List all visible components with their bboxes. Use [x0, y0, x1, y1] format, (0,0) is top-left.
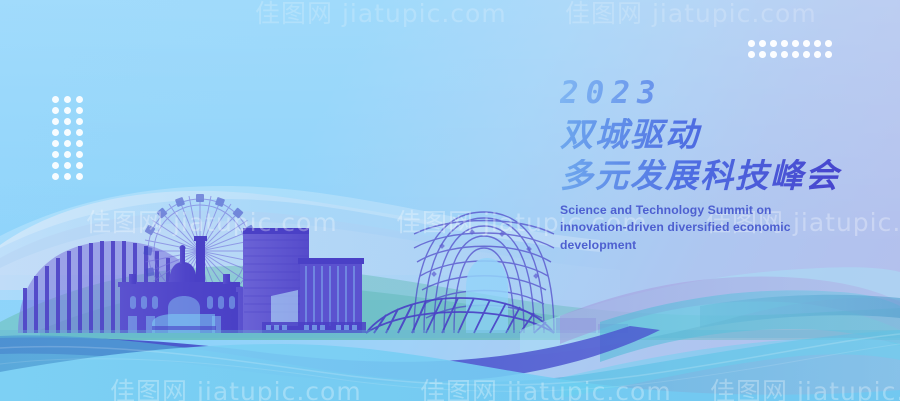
subtitle-block: Science and Technology Summit on innovat… [560, 202, 860, 254]
dot-grid-right-decoration [748, 40, 836, 62]
year-label: 2023 [560, 78, 890, 109]
poster-canvas: 佳图网 jiatupic.com 佳图网 jiatupic.com 佳图网 ji… [0, 0, 900, 401]
subtitle-line-2: innovation-driven diversified economic d… [560, 220, 791, 251]
title-line-1: 双城驱动 [560, 118, 890, 151]
ground-baseline [0, 330, 900, 338]
dot-grid-left-decoration [52, 96, 88, 184]
subtitle-line-1: Science and Technology Summit on [560, 203, 772, 217]
headline-block: 2023 双城驱动 多元发展科技峰会 Science and Technolog… [560, 78, 890, 254]
title-line-2: 多元发展科技峰会 [560, 159, 890, 192]
